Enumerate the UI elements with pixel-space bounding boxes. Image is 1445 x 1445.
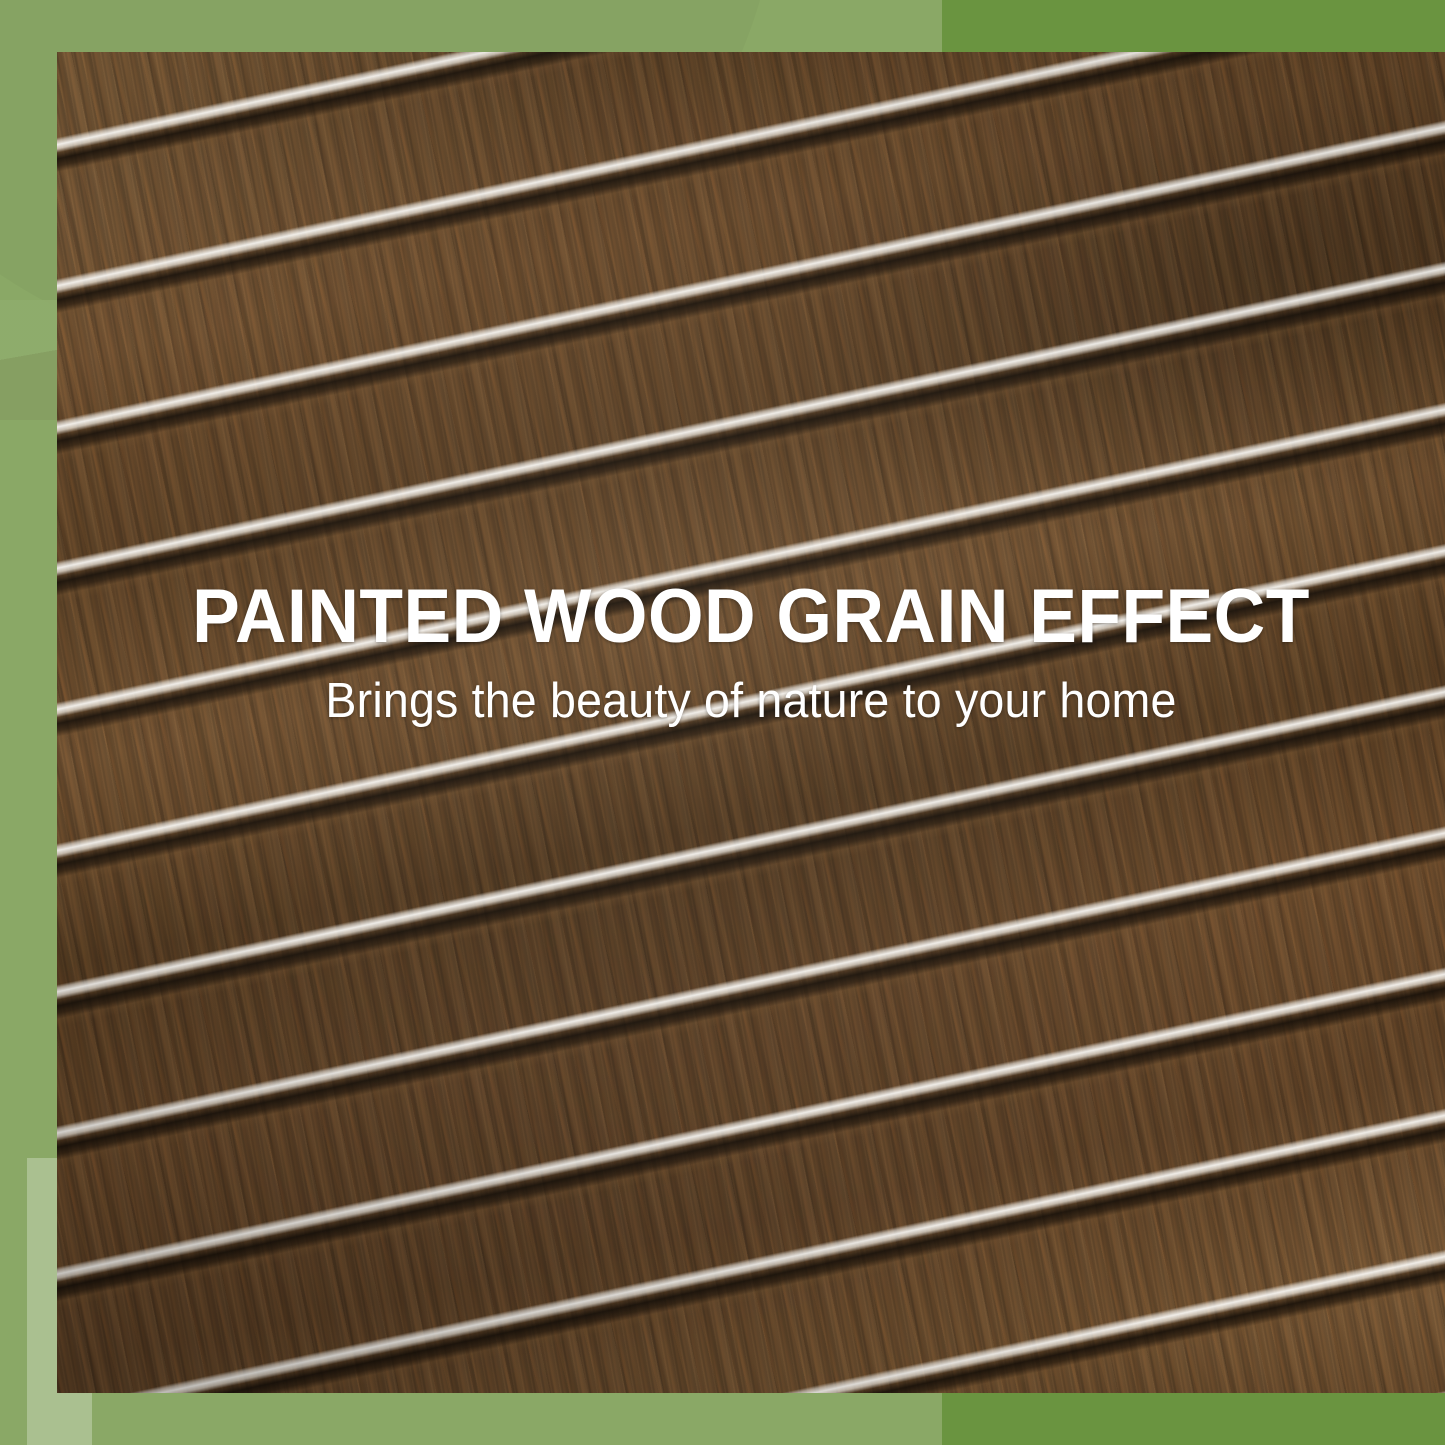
- wood-slat-grooves: [57, 52, 1445, 1393]
- wood-photo-texture: [57, 52, 1445, 1393]
- product-feature-banner: PAINTED WOOD GRAIN EFFECT Brings the bea…: [0, 0, 1445, 1445]
- wood-slat-photo: [57, 52, 1445, 1393]
